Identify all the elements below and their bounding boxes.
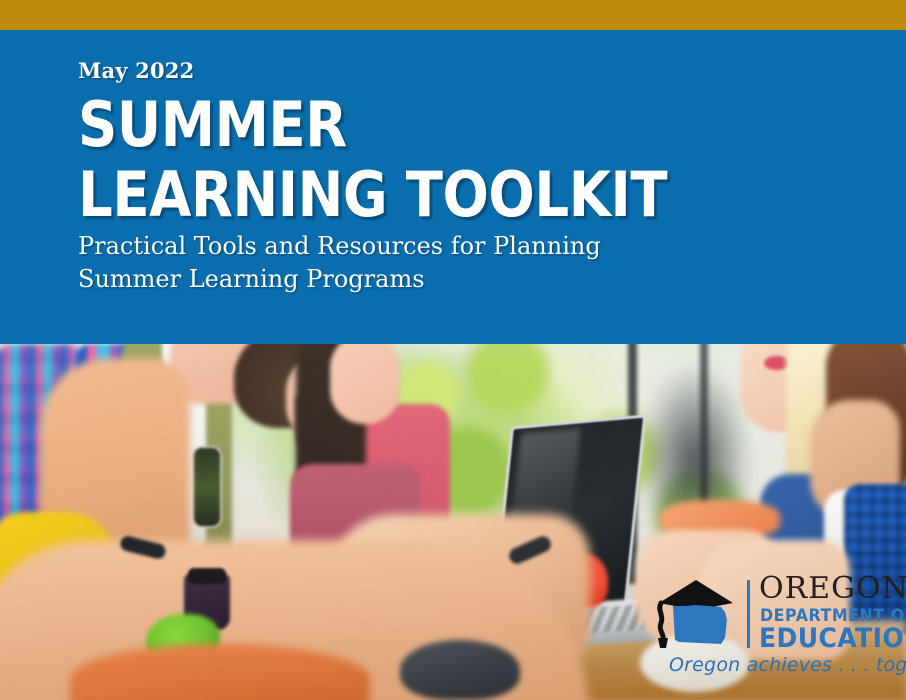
publication-date: May 2022 (78, 58, 194, 83)
cover-subtitle-line-1: Practical Tools and Resources for Planni… (78, 230, 601, 263)
oregon-department-of-education-logo: OREGON DEPARTMENT OF EDUCATION Oregon ac… (655, 572, 895, 684)
cover-title: SUMMER LEARNING TOOLKIT (78, 94, 748, 226)
header-block: May 2022 SUMMER LEARNING TOOLKIT Practic… (0, 30, 906, 344)
cover-subtitle-line-2: Summer Learning Programs (78, 263, 601, 296)
logo-tagline: Oregon achieves . . . together! (669, 656, 906, 675)
photo-person-woman-face (330, 344, 400, 424)
logo-oregon-text: OREGON (759, 574, 906, 604)
photo-ink-pot-lid (188, 568, 226, 584)
cover-title-line-2: LEARNING TOOLKIT (78, 164, 667, 226)
cover-title-line-1: SUMMER (78, 94, 667, 156)
cover-subtitle: Practical Tools and Resources for Planni… (78, 230, 601, 296)
photo-dark-cup (400, 640, 520, 700)
photo-sunglasses (192, 446, 222, 528)
logo-divider (747, 580, 750, 648)
document-cover-page: May 2022 SUMMER LEARNING TOOLKIT Practic… (0, 0, 906, 700)
oregon-state-graduation-cap-icon (655, 576, 741, 650)
logo-education-text: EDUCATION (759, 625, 906, 652)
top-gold-band (0, 0, 906, 30)
